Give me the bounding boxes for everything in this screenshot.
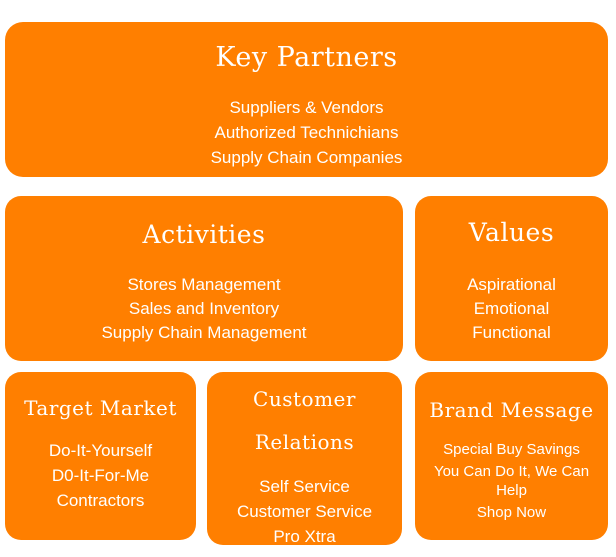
card-activities: Activities Stores Management Sales and I… [5, 196, 403, 361]
business-model-canvas-diagram: Key Partners Suppliers & Vendors Authori… [0, 0, 616, 557]
card-title-target-market: Target Market [5, 398, 196, 418]
list-item: Supply Chain Companies [5, 145, 608, 170]
list-item: Do-It-Yourself [5, 438, 196, 463]
list-item: Stores Management [5, 273, 403, 297]
list-item: Special Buy Savings [421, 440, 602, 459]
list-item: D0-It-For-Me [5, 463, 196, 488]
card-target-market: Target Market Do-It-Yourself D0-It-For-M… [5, 372, 196, 540]
card-body-key-partners: Suppliers & Vendors Authorized Technichi… [5, 95, 608, 170]
list-item: You Can Do It, We Can Help [421, 462, 602, 500]
card-key-partners: Key Partners Suppliers & Vendors Authori… [5, 22, 608, 177]
card-title-values: Values [415, 220, 608, 245]
list-item: Customer Service [207, 499, 402, 524]
card-title-activities: Activities [5, 222, 403, 247]
card-values: Values Aspirational Emotional Functional [415, 196, 608, 361]
list-item: Sales and Inventory [5, 297, 403, 321]
card-title-customer-relations: Customer Relations [207, 378, 402, 464]
card-title-key-partners: Key Partners [5, 44, 608, 71]
list-item: Shop Now [421, 503, 602, 522]
list-item: Pro Xtra [207, 524, 402, 549]
list-item: Functional [415, 321, 608, 345]
card-body-target-market: Do-It-Yourself D0-It-For-Me Contractors [5, 438, 196, 513]
card-body-brand-message: Special Buy Savings You Can Do It, We Ca… [415, 440, 608, 522]
card-body-values: Aspirational Emotional Functional [415, 273, 608, 345]
card-customer-relations: Customer Relations Self Service Customer… [207, 372, 402, 545]
list-item: Aspirational [415, 273, 608, 297]
card-body-activities: Stores Management Sales and Inventory Su… [5, 273, 403, 345]
list-item: Contractors [5, 488, 196, 513]
list-item: Self Service [207, 474, 402, 499]
card-brand-message: Brand Message Special Buy Savings You Ca… [415, 372, 608, 540]
list-item: Authorized Technichians [5, 120, 608, 145]
card-title-brand-message: Brand Message [415, 400, 608, 420]
list-item: Suppliers & Vendors [5, 95, 608, 120]
card-body-customer-relations: Self Service Customer Service Pro Xtra [207, 474, 402, 549]
list-item: Supply Chain Management [5, 321, 403, 345]
list-item: Emotional [415, 297, 608, 321]
